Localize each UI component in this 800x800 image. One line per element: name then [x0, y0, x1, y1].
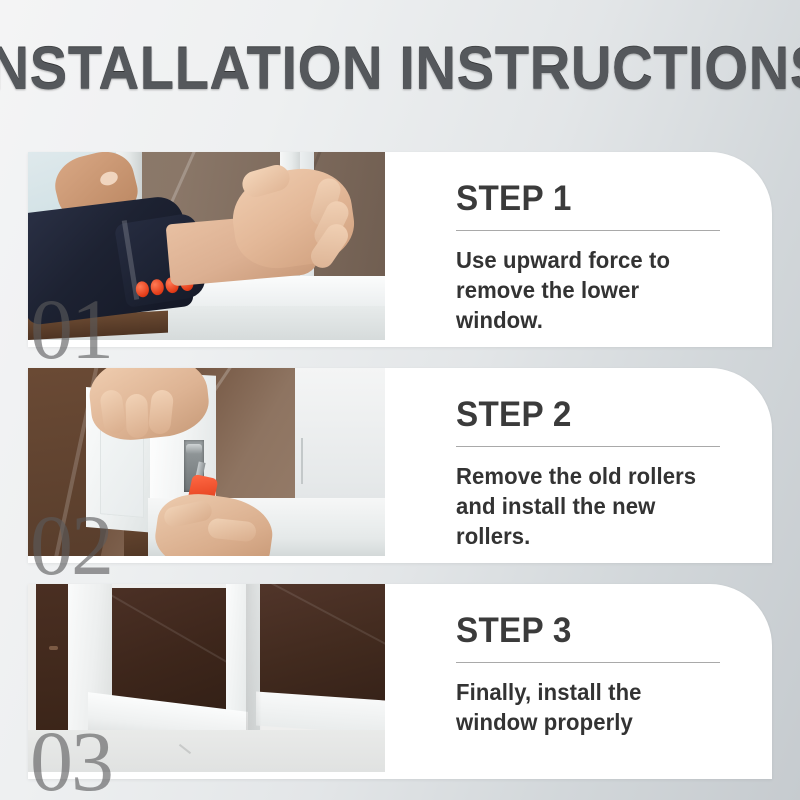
- step-2-divider: [456, 446, 720, 447]
- step-1-text-panel: STEP 1 Use upward force to remove the lo…: [428, 152, 772, 340]
- step-3-title: STEP 3: [456, 612, 722, 650]
- upper-finger-2: [125, 394, 149, 439]
- step-1-divider: [456, 230, 720, 231]
- step-1-description: Use upward force to remove the lower win…: [456, 245, 725, 335]
- step-3-number: 03: [30, 718, 112, 800]
- window-pane-left: [112, 588, 228, 714]
- step-2-number: 02: [30, 502, 112, 588]
- step-1-number: 01: [30, 286, 112, 372]
- step-1-title: STEP 1: [456, 180, 722, 218]
- page-title: INSTALLATION INSTRUCTIONS: [0, 38, 800, 98]
- step-2-title: STEP 2: [456, 396, 722, 434]
- step-3-description: Finally, install the window properly: [456, 677, 725, 737]
- step-2-text-panel: STEP 2 Remove the old rollers and instal…: [428, 368, 772, 556]
- step-3-text-panel: STEP 3 Finally, install the window prope…: [428, 584, 772, 772]
- page-title-bar: INSTALLATION INSTRUCTIONS: [0, 28, 800, 108]
- roller-assembly: [186, 444, 202, 454]
- step-card-3: STEP 3 Finally, install the window prope…: [28, 584, 772, 779]
- step-card-2: STEP 2 Remove the old rollers and instal…: [28, 368, 772, 563]
- step-card-1: STEP 1 Use upward force to remove the lo…: [28, 152, 772, 347]
- step-2-description: Remove the old rollers and install the n…: [456, 461, 725, 551]
- step-3-divider: [456, 662, 720, 663]
